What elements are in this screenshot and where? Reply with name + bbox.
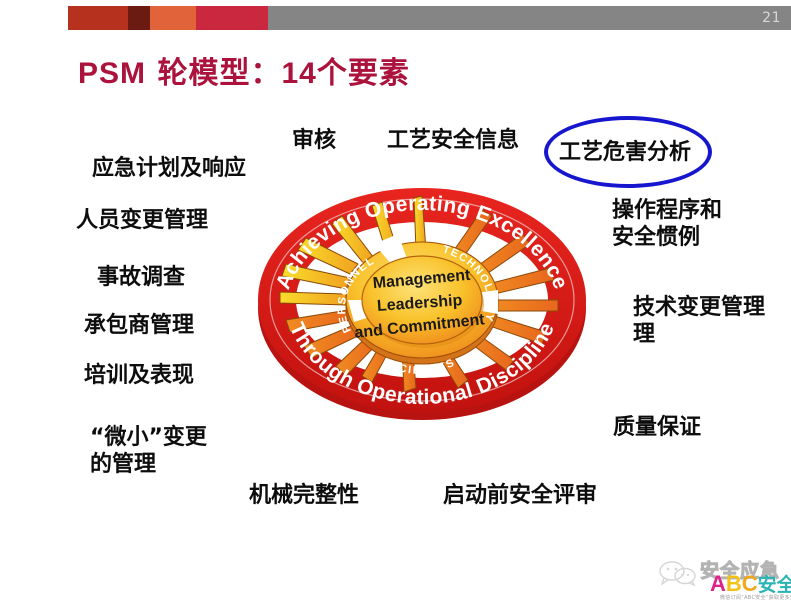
header-bar-orange-segment (150, 6, 196, 30)
watermark-tagline: 微信订阅“ABC安全”获取更多安全资讯 (720, 594, 791, 601)
element-label-pre-startup-review: 启动前安全评审 (443, 483, 597, 510)
watermark-logo-c: C (742, 571, 758, 596)
wechat-bubble-icon (658, 560, 698, 586)
header-bar-crimson-segment (196, 6, 268, 30)
watermark-logo-a: A (710, 571, 726, 596)
element-label-mechanical-integrity: 机械完整性 (249, 483, 359, 510)
page-title-acronym: PSM (78, 57, 146, 90)
page-title-cn: 轮模型： (146, 56, 281, 91)
page-title-suffix: 个要素 (317, 56, 410, 91)
header-bar-maroon-segment (128, 6, 150, 30)
header-bar: 21 (0, 6, 791, 30)
element-label-operating-procedures: 操作程序和 安全惯例 (612, 198, 722, 252)
element-label-incident-investigation: 事故调查 (97, 265, 185, 292)
element-label-quality-assurance: 质量保证 (613, 415, 701, 442)
element-label-emergency-planning: 应急计划及响应 (92, 156, 246, 183)
element-label-personnel-change-mgmt: 人员变更管理 (76, 208, 208, 235)
page-title-count: 14 (281, 57, 316, 90)
element-label-contractor-management: 承包商管理 (84, 313, 194, 340)
element-label-technology-change-mgmt: 技术变更管理 理 (633, 295, 765, 349)
element-label-process-hazard-analysis: 工艺危害分析 (559, 140, 691, 167)
psm-wheel-diagram: Achieving Operating Excellence Through O… (246, 172, 598, 424)
element-label-process-safety-info: 工艺安全信息 (387, 128, 519, 155)
page-title: PSM 轮模型：14个要素 (78, 48, 410, 92)
page-number: 21 (762, 6, 781, 30)
element-label-audit: 审核 (292, 128, 336, 155)
element-label-training-performance: 培训及表现 (84, 363, 194, 390)
watermark: 安全应急 ABC安全 微信订阅“ABC安全”获取更多安全资讯 (648, 548, 791, 606)
watermark-logo-b: B (726, 571, 742, 596)
watermark-logo: ABC安全 (710, 570, 791, 597)
watermark-logo-cn: 安全 (758, 574, 791, 596)
header-bar-red-segment (68, 6, 128, 30)
element-label-minor-change-mgmt: “微小”变更 的管理 (90, 425, 207, 479)
